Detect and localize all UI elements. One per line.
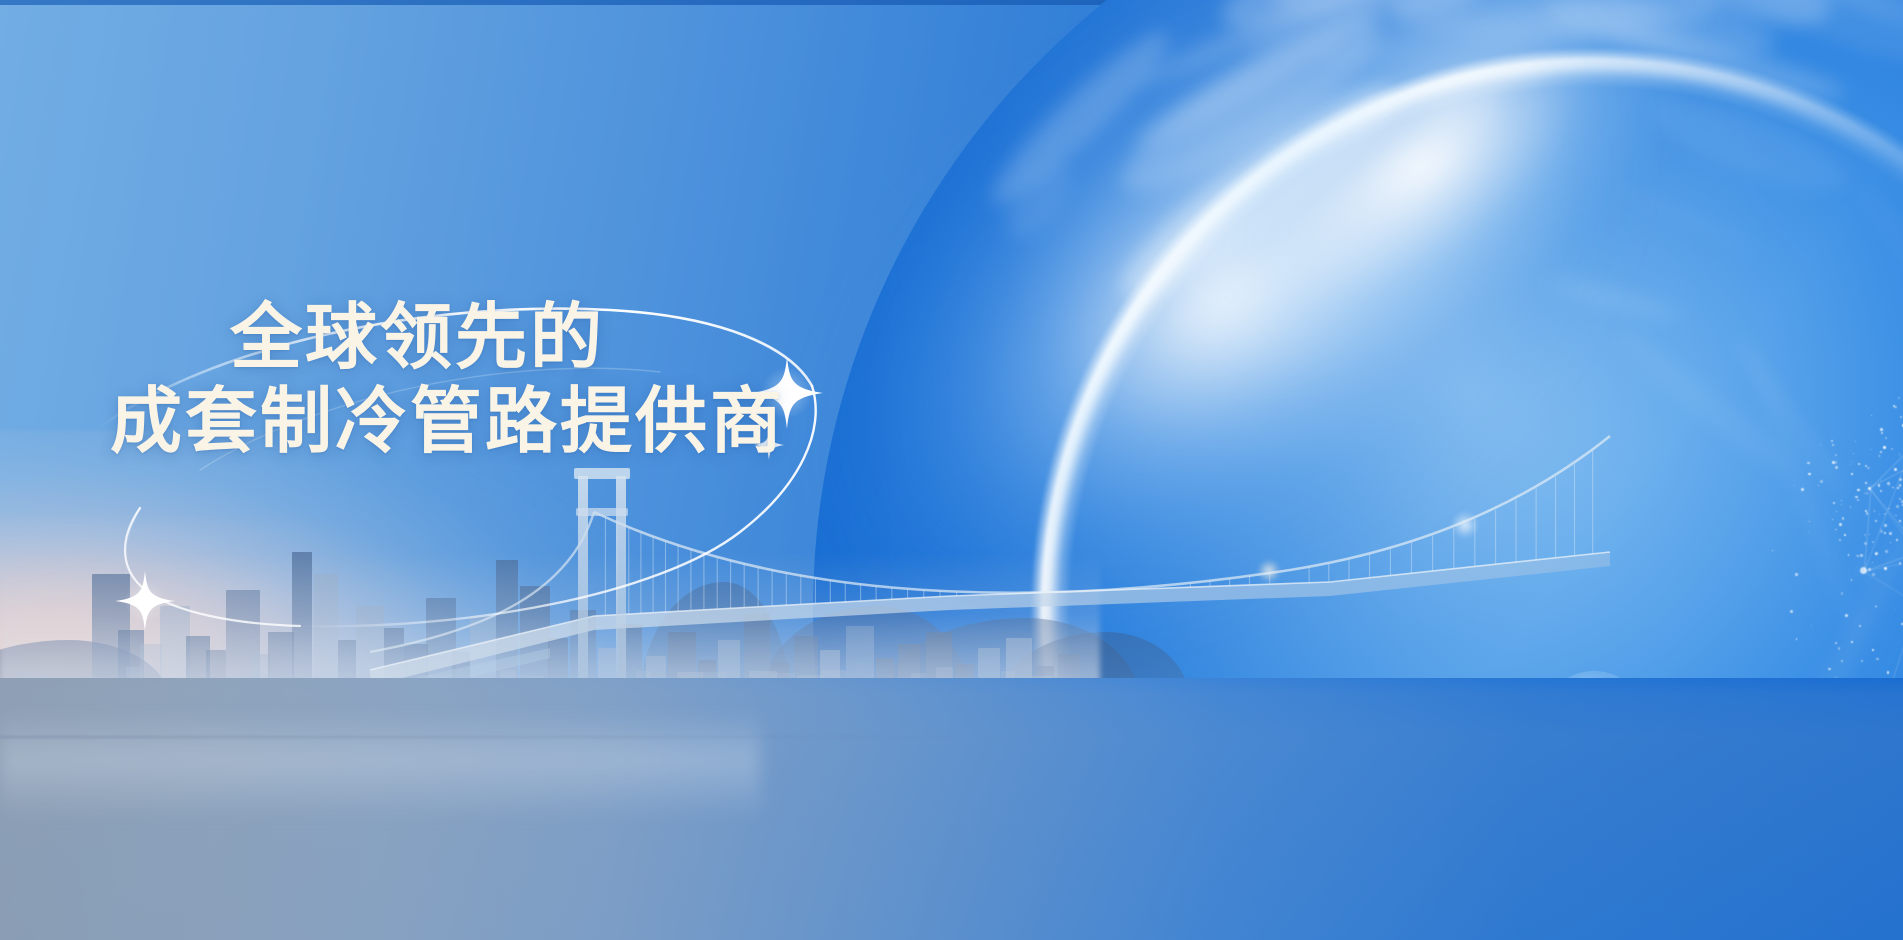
- hero-banner: 全球领先的 成套制冷管路提供商: [0, 0, 1903, 940]
- top-edge-strip: [0, 0, 1903, 5]
- water-sheen: [0, 710, 760, 820]
- headline-block: 全球领先的 成套制冷管路提供商: [110, 296, 870, 464]
- headline-line-1: 全球领先的: [230, 296, 870, 380]
- water-horizon-line: [0, 736, 980, 738]
- headline-line-2: 成套制冷管路提供商: [110, 380, 870, 464]
